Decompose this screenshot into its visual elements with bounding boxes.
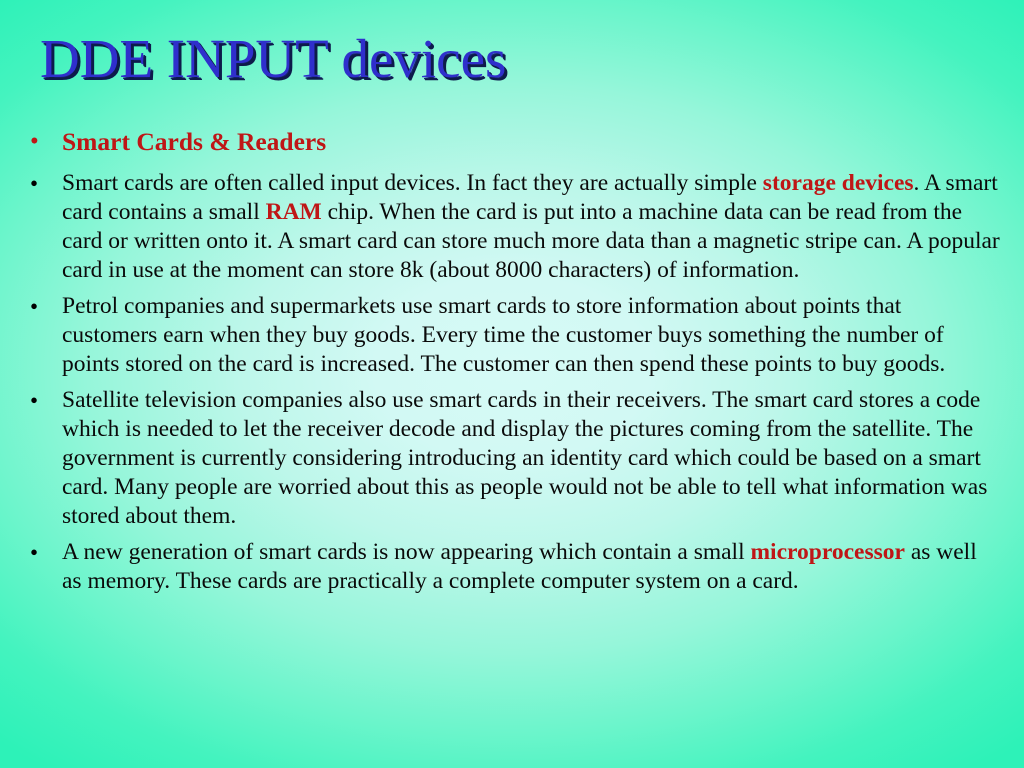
text-run: Satellite television companies also use … bbox=[62, 387, 987, 529]
bullet-point-icon: • bbox=[30, 538, 62, 567]
text-run: A new generation of smart cards is now a… bbox=[62, 539, 750, 565]
bullet-point-icon: • bbox=[30, 386, 62, 415]
bullet-item-para-1: •Smart cards are often called input devi… bbox=[30, 169, 1002, 285]
bullet-list: •Smart Cards & Readers•Smart cards are o… bbox=[30, 126, 1002, 596]
bullet-text: Petrol companies and supermarkets use sm… bbox=[62, 292, 1002, 379]
bullet-text: Satellite television companies also use … bbox=[62, 386, 1002, 531]
text-run: Petrol companies and supermarkets use sm… bbox=[62, 293, 945, 377]
bullet-text: Smart Cards & Readers bbox=[62, 126, 1002, 157]
emphasis-term: RAM bbox=[266, 199, 322, 225]
text-run: Smart Cards & Readers bbox=[62, 127, 326, 156]
slide-canvas: DDE INPUT devices •Smart Cards & Readers… bbox=[0, 0, 1024, 768]
emphasis-term: storage devices bbox=[763, 170, 914, 196]
emphasis-term: microprocessor bbox=[750, 539, 904, 565]
text-run: Smart cards are often called input devic… bbox=[62, 170, 763, 196]
bullet-point-icon: • bbox=[30, 292, 62, 321]
bullet-point-icon: • bbox=[30, 126, 62, 157]
bullet-item-para-3: •Satellite television companies also use… bbox=[30, 386, 1002, 531]
title-block: DDE INPUT devices bbox=[40, 28, 984, 90]
bullet-item-heading: •Smart Cards & Readers bbox=[30, 126, 1002, 157]
bullet-item-para-4: •A new generation of smart cards is now … bbox=[30, 538, 1002, 596]
bullet-item-para-2: •Petrol companies and supermarkets use s… bbox=[30, 292, 1002, 379]
bullet-text: Smart cards are often called input devic… bbox=[62, 169, 1002, 285]
page-title: DDE INPUT devices bbox=[40, 28, 984, 90]
bullet-point-icon: • bbox=[30, 169, 62, 198]
bullet-text: A new generation of smart cards is now a… bbox=[62, 538, 1002, 596]
